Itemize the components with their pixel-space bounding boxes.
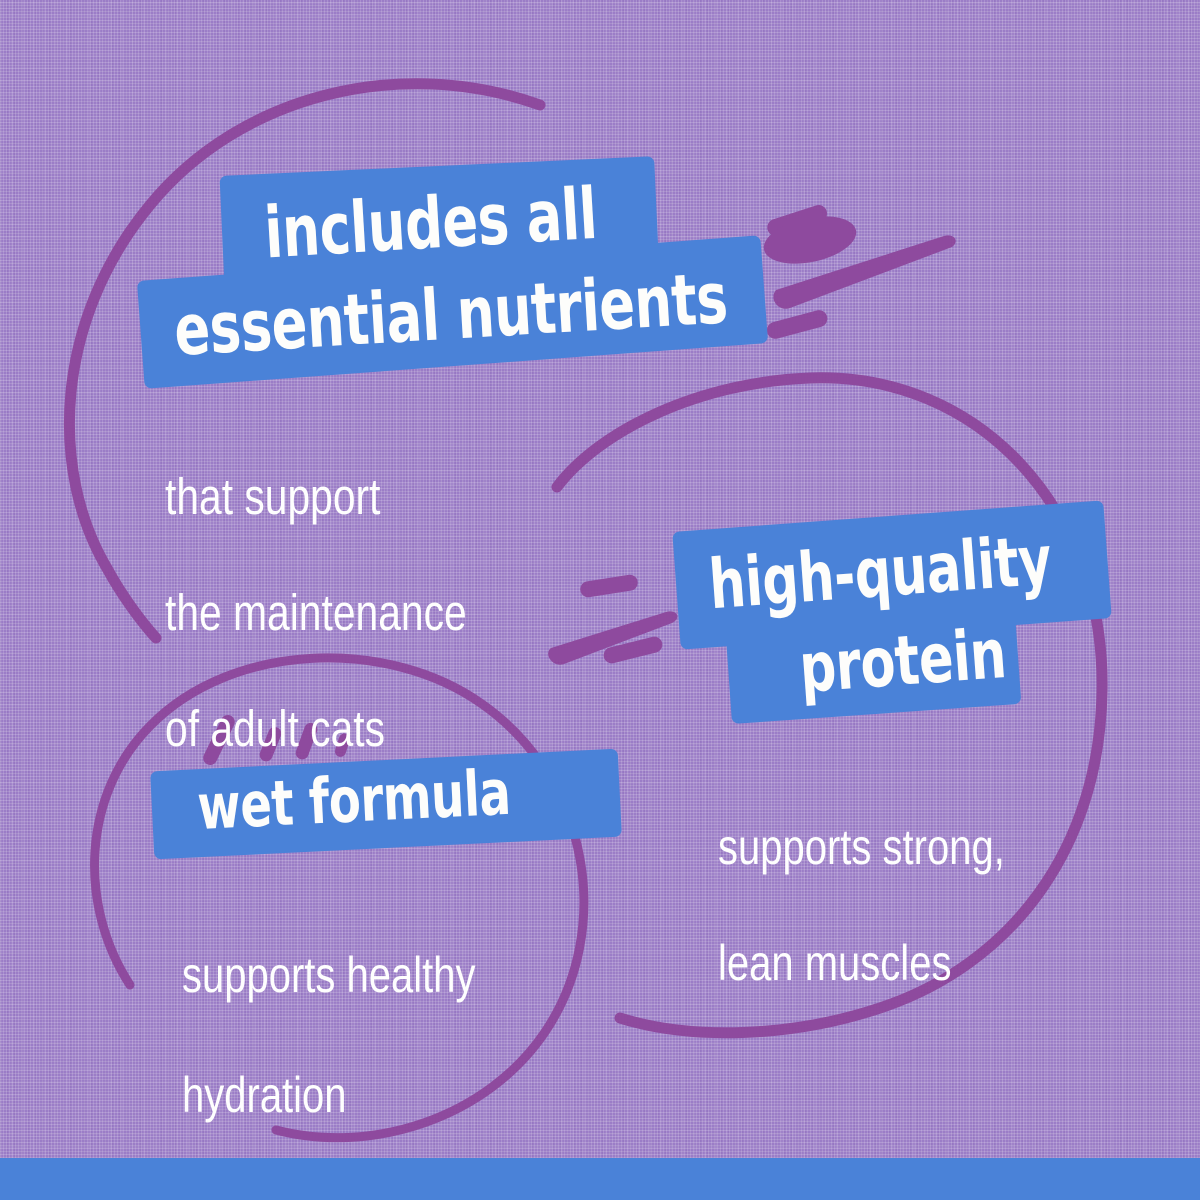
body-line-3: of adult cats	[165, 700, 467, 758]
highlight-text-wet-formula: wet formula	[196, 759, 555, 842]
promo-poster: includes all essential nutrients that su…	[0, 0, 1200, 1200]
body-line-1: supports strong,	[718, 818, 1005, 876]
body-line-2: lean muscles	[718, 934, 1005, 992]
body-line-1: supports healthy	[182, 945, 476, 1005]
highlight-line-2: protein	[796, 596, 1072, 722]
highlight-text-essential-nutrients: includes all essential nutrients	[262, 156, 805, 371]
body-line-2: the maintenance	[165, 584, 467, 642]
body-copy-wet-formula: supports healthy hydration	[182, 885, 549, 1185]
body-line-2: hydration	[182, 1065, 476, 1125]
body-copy-high-quality-protein: supports strong, lean muscles	[718, 760, 1077, 1050]
highlight-text-high-quality-protein: high-quality protein	[706, 511, 1107, 719]
bottom-accent-bar	[0, 1158, 1200, 1200]
body-line-1: that support	[165, 468, 467, 526]
highlight-line-1: wet formula	[196, 755, 512, 848]
